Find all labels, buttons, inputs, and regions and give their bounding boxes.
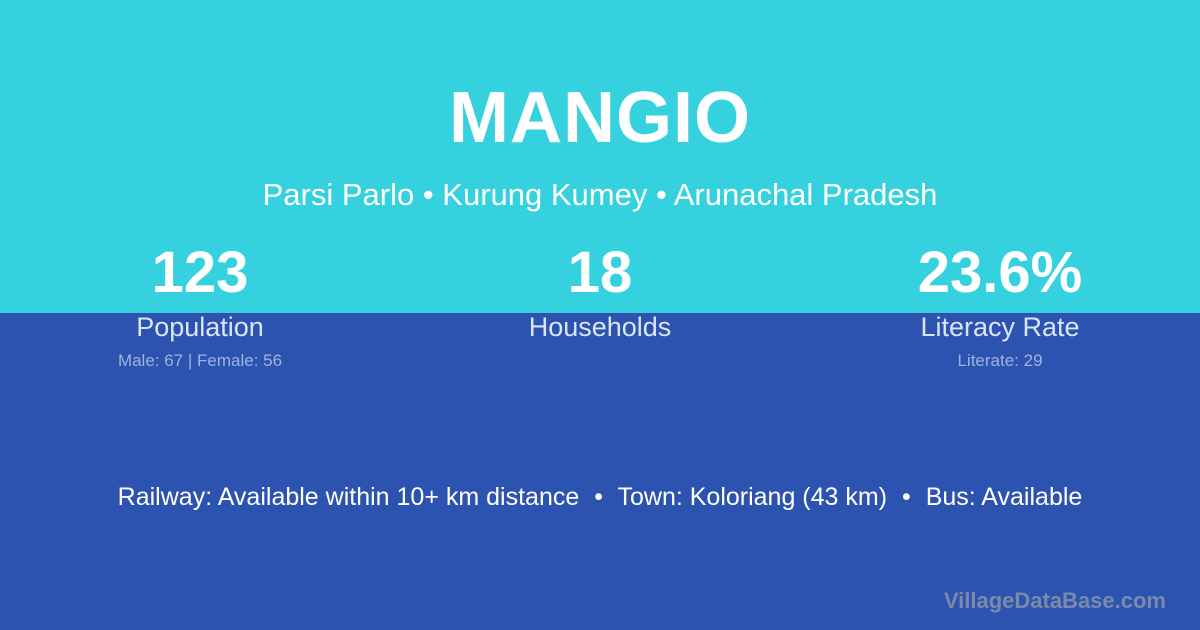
infra-town: Town: Koloriang (43 km) (617, 483, 887, 511)
stat-literacy-rate-value: 23.6% (800, 244, 1200, 310)
infrastructure-summary: Railway: Available within 10+ km distanc… (0, 485, 1200, 510)
stat-population-label: Population (0, 314, 400, 341)
stat-households-breakdown (400, 352, 800, 369)
stat-households-label: Households (400, 314, 800, 341)
infra-separator-2: • (894, 483, 919, 511)
stat-households-value: 18 (400, 244, 800, 310)
village-info-card: MANGIO Parsi Parlo • Kurung Kumey • Arun… (0, 0, 1200, 630)
stat-literacy-rate-label: Literacy Rate (800, 314, 1200, 341)
infra-bus: Bus: Available (926, 483, 1083, 511)
page-title: MANGIO (0, 82, 1200, 154)
stat-literacy-rate: 23.6% Literacy Rate Literate: 29 (800, 244, 1200, 369)
site-watermark: VillageDataBase.com (944, 590, 1166, 612)
stat-population-value: 123 (0, 244, 400, 310)
village-location-breadcrumb: Parsi Parlo • Kurung Kumey • Arunachal P… (0, 179, 1200, 210)
infra-separator-1: • (586, 483, 611, 511)
card-header: MANGIO Parsi Parlo • Kurung Kumey • Arun… (0, 0, 1200, 210)
infra-railway: Railway: Available within 10+ km distanc… (118, 483, 580, 511)
stats-row: 123 Population Male: 67 | Female: 56 18 … (0, 244, 1200, 369)
stat-households: 18 Households (400, 244, 800, 369)
stat-literacy-rate-breakdown: Literate: 29 (800, 352, 1200, 369)
stat-population-breakdown: Male: 67 | Female: 56 (0, 352, 400, 369)
stat-population: 123 Population Male: 67 | Female: 56 (0, 244, 400, 369)
